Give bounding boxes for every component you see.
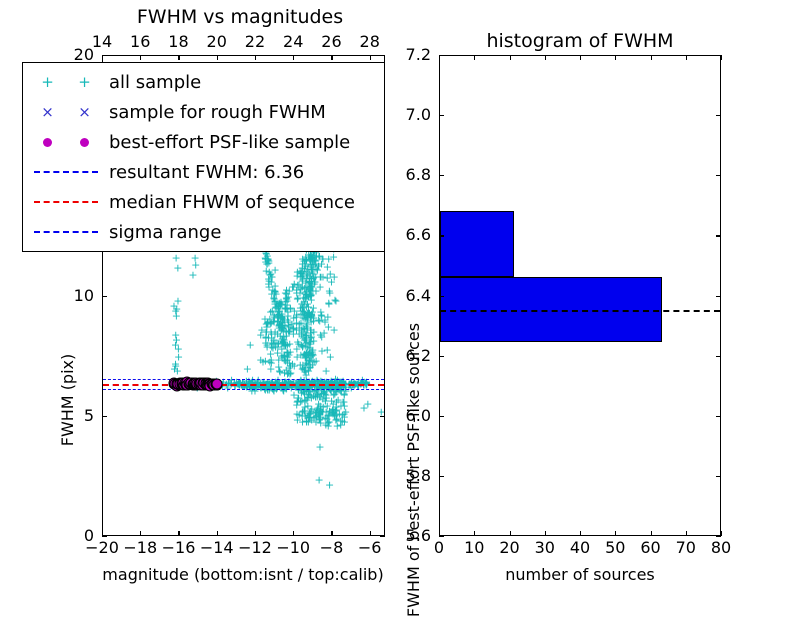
scatter-point-all-sample: +	[325, 480, 334, 491]
hist-x-tick-mark-top	[510, 55, 511, 60]
hist-x-tick-label: 50	[605, 540, 625, 556]
scatter-point-all-sample: +	[300, 349, 309, 360]
legend-item-label: sample for rough FWHM	[109, 102, 326, 123]
hist-y-tick-mark	[439, 296, 444, 297]
hist-x-tick-label: 30	[535, 540, 555, 556]
hist-x-tick-mark	[474, 531, 475, 536]
hist-y-tick-mark	[439, 55, 444, 56]
scatter-point-all-sample: +	[306, 327, 315, 338]
y-tick-label: 10	[74, 288, 94, 304]
scatter-point-all-sample: +	[305, 268, 314, 279]
scatter-point-all-sample: +	[314, 475, 323, 486]
hist-y-tick-label: 6.6	[406, 227, 431, 243]
hist-x-tick-mark-top	[686, 55, 687, 60]
hist-x-tick-mark-top	[615, 55, 616, 60]
scatter-ylabel: FWHM (pix)	[58, 354, 77, 447]
histogram-ylabel: FWHM of best-effort PSF-like sources	[404, 323, 423, 617]
histogram-axes	[439, 55, 721, 536]
histogram-bar[interactable]	[440, 211, 514, 277]
hist-x-tick-label: 10	[464, 540, 484, 556]
hist-y-tick-mark-right	[716, 175, 721, 176]
x-tick-label-top: 24	[283, 34, 303, 50]
scatter-point-all-sample: +	[333, 421, 342, 432]
legend-box: ++all sample××sample for rough FWHMbest-…	[22, 62, 385, 252]
y-tick-label-top: 20	[74, 47, 94, 63]
x-tick-mark-top	[331, 55, 332, 60]
hist-x-tick-label: 40	[570, 540, 590, 556]
dashdot-line-icon	[23, 231, 109, 233]
hist-y-tick-mark-right	[716, 356, 721, 357]
hist-y-tick-mark-right	[716, 416, 721, 417]
x-tick-label: −18	[123, 540, 157, 556]
x-tick-mark-top	[217, 55, 218, 60]
dashed-line-icon	[23, 201, 109, 203]
scatter-point-all-sample: +	[319, 327, 328, 338]
legend-item-label: all sample	[109, 72, 201, 93]
y-tick-mark-right	[380, 55, 385, 56]
x-tick-label: −10	[276, 540, 310, 556]
hist-x-tick-mark	[651, 531, 652, 536]
x-tick-label-top: 28	[360, 34, 380, 50]
scatter-point-all-sample: +	[280, 351, 289, 362]
y-tick-mark	[102, 296, 107, 297]
scatter-point-all-sample: +	[270, 265, 279, 276]
histogram-title: histogram of FWHM	[486, 30, 673, 52]
scatter-point-all-sample: +	[256, 355, 265, 366]
hist-y-tick-mark	[439, 536, 444, 537]
hist-y-tick-mark-right	[716, 296, 721, 297]
x-tick-label-top: 20	[207, 34, 227, 50]
x-tick-label: −6	[358, 540, 382, 556]
scatter-point-all-sample: +	[300, 365, 309, 376]
hist-y-tick-label: 6.4	[406, 288, 431, 304]
scatter-point-all-sample: +	[339, 397, 348, 408]
y-tick-mark	[102, 536, 107, 537]
hist-y-tick-mark	[439, 115, 444, 116]
scatter-point-all-sample: +	[173, 296, 182, 307]
scatter-point-all-sample: +	[250, 386, 259, 397]
scatter-point-all-sample: +	[323, 344, 332, 355]
hist-x-tick-mark-top	[721, 55, 722, 60]
x-tick-mark	[331, 531, 332, 536]
figure-canvas: FWHM vs magnitudes +++++++++++++++++++++…	[0, 0, 800, 600]
scatter-point-all-sample: +	[261, 327, 270, 338]
x-tick-label-top: 16	[130, 34, 150, 50]
scatter-point-all-sample: +	[246, 339, 255, 350]
hist-x-tick-label: 60	[640, 540, 660, 556]
x-tick-mark	[217, 531, 218, 536]
dashed-line-icon	[23, 171, 109, 173]
scatter-point-all-sample: +	[273, 338, 282, 349]
scatter-point-all-sample: +	[329, 324, 338, 335]
x-tick-mark	[293, 531, 294, 536]
x-tick-mark-top	[178, 55, 179, 60]
scatter-point-all-sample: +	[304, 309, 313, 320]
legend-item-3[interactable]: resultant FWHM: 6.36	[23, 157, 384, 187]
x-tick-label-top: 26	[321, 34, 341, 50]
scatter-point-all-sample: +	[296, 284, 305, 295]
y-tick-label: 5	[84, 408, 94, 424]
scatter-point-all-sample: +	[243, 363, 252, 374]
hist-x-tick-mark	[686, 531, 687, 536]
scatter-point-all-sample: +	[359, 403, 368, 414]
scatter-point-all-sample: +	[297, 325, 306, 336]
y-tick-mark-right	[380, 296, 385, 297]
plus-marker-icon: ++	[23, 73, 109, 91]
y-tick-label: 0	[84, 528, 94, 544]
y-tick-mark-right	[380, 536, 385, 537]
left-panel-title: FWHM vs magnitudes	[137, 6, 343, 28]
hist-x-tick-mark	[615, 531, 616, 536]
histogram-xlabel: number of sources	[505, 565, 655, 584]
hist-y-tick-mark-right	[716, 235, 721, 236]
scatter-point-all-sample: +	[331, 405, 340, 416]
hist-x-tick-label: 80	[711, 540, 731, 556]
scatter-point-all-sample: +	[324, 298, 333, 309]
hist-y-tick-mark-right	[716, 476, 721, 477]
legend-item-label: resultant FWHM: 6.36	[109, 162, 304, 183]
scatter-point-all-sample: +	[305, 413, 314, 424]
scatter-point-all-sample: +	[273, 311, 282, 322]
hist-y-tick-label: 7.2	[406, 47, 431, 63]
x-tick-mark-top	[140, 55, 141, 60]
x-tick-mark	[255, 531, 256, 536]
hist-x-tick-mark	[510, 531, 511, 536]
x-tick-label-top: 18	[168, 34, 188, 50]
scatter-xlabel: magnitude (bottom:isnt / top:calib)	[102, 565, 383, 584]
hist-y-tick-mark	[439, 476, 444, 477]
hist-y-tick-mark	[439, 356, 444, 357]
cross-marker-icon: ××	[23, 103, 109, 121]
scatter-point-all-sample: +	[308, 285, 317, 296]
legend-item-1[interactable]: ××sample for rough FWHM	[23, 97, 384, 127]
hist-x-tick-mark	[545, 531, 546, 536]
hist-y-tick-mark-right	[716, 115, 721, 116]
legend-item-5[interactable]: sigma range	[23, 217, 384, 247]
x-tick-mark	[370, 531, 371, 536]
hist-x-tick-label: 20	[499, 540, 519, 556]
hist-x-tick-mark-top	[545, 55, 546, 60]
x-tick-label: −8	[320, 540, 344, 556]
hist-y-tick-mark-right	[716, 536, 721, 537]
hist-x-tick-mark-top	[474, 55, 475, 60]
scatter-point-all-sample: +	[324, 420, 333, 431]
x-tick-mark-top	[370, 55, 371, 60]
hist-x-tick-mark-top	[651, 55, 652, 60]
hist-x-tick-label: 0	[434, 540, 444, 556]
reference-line-sigma-range-upper	[103, 379, 384, 380]
reference-line-sigma-range-lower	[103, 389, 384, 390]
hist-x-tick-mark	[580, 531, 581, 536]
y-tick-mark-right	[380, 416, 385, 417]
hist-x-tick-mark	[721, 531, 722, 536]
circle-marker-icon	[23, 138, 109, 147]
scatter-point-all-sample: +	[275, 297, 284, 308]
x-tick-label-top: 22	[245, 34, 265, 50]
x-tick-label: −16	[162, 540, 196, 556]
x-tick-mark-top	[102, 55, 103, 60]
legend-item-label: sigma range	[109, 222, 221, 243]
legend-item-label: median FHWM of sequence	[109, 192, 355, 213]
x-tick-label: −12	[238, 540, 272, 556]
histogram-reference-line	[440, 310, 720, 312]
hist-x-tick-mark-top	[580, 55, 581, 60]
legend-item-2[interactable]: best-effort PSF-like sample	[23, 127, 384, 157]
scatter-point-all-sample: +	[172, 334, 181, 345]
legend-item-0[interactable]: ++all sample	[23, 67, 384, 97]
x-tick-mark-top	[255, 55, 256, 60]
hist-y-tick-label: 6.8	[406, 167, 431, 183]
scatter-point-all-sample: +	[171, 361, 180, 372]
legend-item-4[interactable]: median FHWM of sequence	[23, 187, 384, 217]
x-tick-mark	[178, 531, 179, 536]
hist-y-tick-mark	[439, 416, 444, 417]
x-tick-mark	[140, 531, 141, 536]
scatter-point-psf-like	[212, 378, 223, 389]
hist-x-tick-label: 70	[676, 540, 696, 556]
x-tick-mark-top	[293, 55, 294, 60]
histogram-plot-area	[440, 56, 720, 535]
x-tick-label-top: 14	[92, 34, 112, 50]
legend-item-label: best-effort PSF-like sample	[109, 132, 350, 153]
scatter-point-all-sample: +	[315, 441, 324, 452]
hist-y-tick-mark-right	[716, 55, 721, 56]
scatter-point-all-sample: +	[282, 364, 291, 375]
scatter-point-all-sample: +	[190, 253, 199, 264]
hist-y-tick-label: 7.0	[406, 107, 431, 123]
scatter-point-all-sample: +	[321, 365, 330, 376]
y-tick-mark	[102, 416, 107, 417]
hist-y-tick-mark	[439, 175, 444, 176]
hist-y-tick-mark	[439, 235, 444, 236]
reference-line-median-fhwm-of-sequence	[103, 384, 384, 386]
x-tick-label: −14	[200, 540, 234, 556]
